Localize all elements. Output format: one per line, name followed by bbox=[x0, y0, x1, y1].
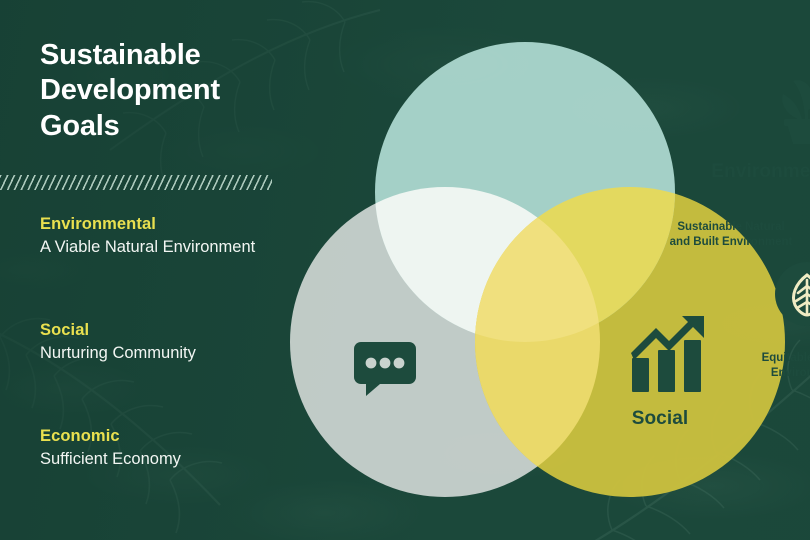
venn-circles bbox=[280, 0, 810, 540]
potted-plant-icon bbox=[770, 62, 810, 144]
legend-item-environmental: Environmental A Viable Natural Environme… bbox=[40, 213, 290, 259]
infographic-canvas: Sustainable Development Goals Environmen… bbox=[0, 0, 810, 540]
legend-item-social: Social Nurturing Community bbox=[40, 319, 290, 365]
legend-description: Nurturing Community bbox=[40, 342, 290, 364]
legend-item-economic: Economic Sufficient Economy bbox=[40, 425, 290, 471]
venn-diagram: Environmental Social Economic Sustainabl… bbox=[280, 0, 810, 540]
page-title: Sustainable Development Goals bbox=[40, 38, 290, 144]
leaf-icon bbox=[775, 262, 810, 326]
legend-heading: Environmental bbox=[40, 213, 290, 235]
legend-description: A Viable Natural Environment bbox=[40, 236, 290, 258]
hatched-divider bbox=[0, 175, 272, 190]
legend-heading: Economic bbox=[40, 425, 290, 447]
bar-chart-growth-icon bbox=[630, 312, 706, 394]
legend-heading: Social bbox=[40, 319, 290, 341]
speech-bubble-icon bbox=[352, 340, 418, 396]
center-leaf-badge bbox=[775, 262, 810, 326]
legend-description: Sufficient Economy bbox=[40, 448, 290, 470]
